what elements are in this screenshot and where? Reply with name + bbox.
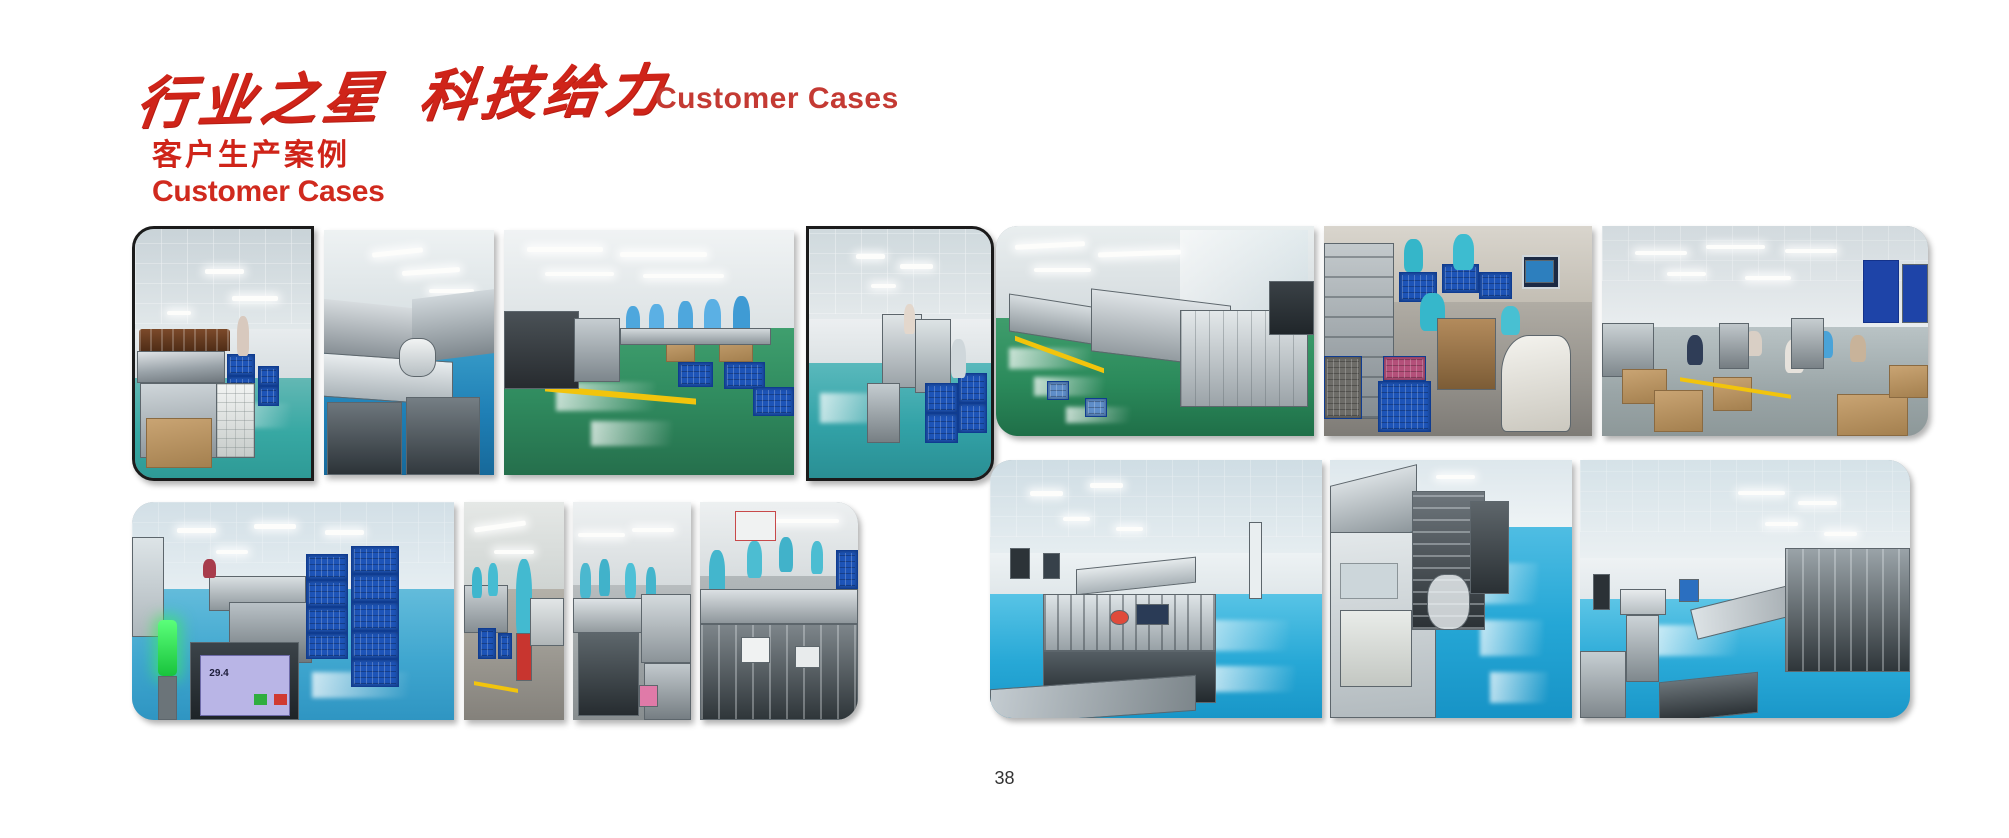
photo-tr-3[interactable] xyxy=(1602,226,1928,436)
photo-scene xyxy=(996,226,1314,436)
bottom-right-group xyxy=(990,460,1910,718)
photo-bl-1[interactable]: 29.4 29.4 xyxy=(132,502,454,720)
photo-scene xyxy=(504,230,794,475)
title-en-bold: Customer Cases xyxy=(152,175,385,209)
photo-scene xyxy=(1324,226,1592,436)
photo-bl-4[interactable] xyxy=(700,502,858,720)
photo-scene xyxy=(1602,226,1928,436)
photo-scene xyxy=(1330,460,1572,718)
photo-scene xyxy=(573,502,691,720)
photo-tl-3[interactable] xyxy=(504,230,794,475)
calligraphy-part2: 科技给力 xyxy=(415,60,672,128)
photo-scene xyxy=(990,460,1322,718)
photo-br-1[interactable] xyxy=(990,460,1322,718)
photo-tr-2[interactable] xyxy=(1324,226,1592,436)
page-number: 38 xyxy=(0,768,2009,789)
photo-scene xyxy=(135,229,311,478)
bottom-left-group: 29.4 29.4 xyxy=(132,502,858,720)
photo-tl-2[interactable] xyxy=(324,230,494,475)
photo-bl-2[interactable] xyxy=(464,502,564,720)
title-en-top: Customer Cases xyxy=(655,82,899,116)
photo-scene xyxy=(809,229,991,478)
photo-tr-1[interactable] xyxy=(996,226,1314,436)
photo-scene xyxy=(464,502,564,720)
photo-scene xyxy=(324,230,494,475)
calligraphy-part1: 行业之星 xyxy=(132,67,389,135)
photo-scene xyxy=(700,502,858,720)
title-cn: 客户生产案例 xyxy=(152,130,350,174)
photo-scene xyxy=(1580,460,1910,718)
photo-tl-4[interactable] xyxy=(806,226,994,481)
photo-tl-1[interactable] xyxy=(132,226,314,481)
slide-root: 行业之星科技给力 Customer Cases 客户生产案例 Customer … xyxy=(0,0,2009,838)
photo-br-3[interactable] xyxy=(1580,460,1910,718)
top-right-group xyxy=(996,226,1928,436)
slide-header: 行业之星科技给力 Customer Cases 客户生产案例 Customer … xyxy=(0,0,2009,215)
photo-bl-3[interactable] xyxy=(573,502,691,720)
photo-br-2[interactable] xyxy=(1330,460,1572,718)
calligraphy-title: 行业之星科技给力 xyxy=(132,45,675,140)
hmi-reading: 29.4 xyxy=(209,668,228,679)
photo-scene: 29.4 29.4 xyxy=(132,502,454,720)
top-left-group xyxy=(132,226,994,481)
